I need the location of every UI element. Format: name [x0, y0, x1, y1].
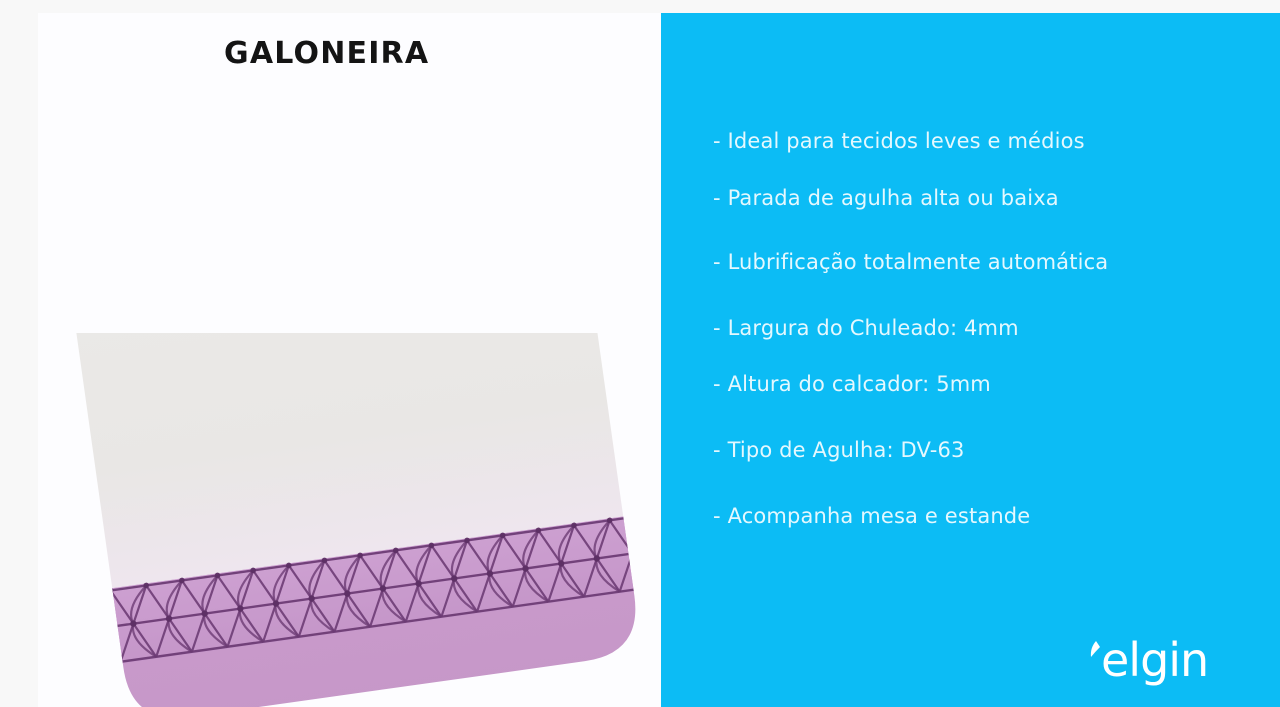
list-item-label: Parada de agulha alta ou baixa [728, 186, 1059, 210]
list-item-label: Altura do calcador: 5mm [728, 372, 991, 396]
bullet-dash: - [713, 438, 721, 462]
list-item: - Ideal para tecidos leves e médios [713, 129, 1085, 153]
list-item: - Largura do Chuleado: 4mm [713, 316, 1019, 340]
fabric-body [38, 333, 661, 707]
bullet-dash: - [713, 129, 721, 153]
list-item: - Lubrificação totalmente automática [713, 250, 1108, 274]
apostrophe-swoosh-icon [1091, 641, 1100, 657]
elgin-wordmark: elgin [1101, 633, 1208, 687]
bullet-dash: - [713, 250, 721, 274]
presentation-slide: GALONEIRA Ponto da galoneira [0, 0, 1280, 707]
coverstitch-seam-illustration [38, 333, 661, 707]
list-item: - Altura do calcador: 5mm [713, 372, 991, 396]
features-panel: - Ideal para tecidos leves e médios - Pa… [661, 13, 1280, 707]
list-item-label: Tipo de Agulha: DV-63 [728, 438, 965, 462]
list-item: - Acompanha mesa e estande [713, 504, 1030, 528]
list-item: - Parada de agulha alta ou baixa [713, 186, 1059, 210]
elgin-logo: elgin [1087, 631, 1247, 689]
elgin-logo-mark: elgin [1087, 631, 1247, 689]
bullet-dash: - [713, 186, 721, 210]
page-title: GALONEIRA [224, 36, 429, 71]
list-item-label: Acompanha mesa e estande [728, 504, 1031, 528]
list-item-label: Largura do Chuleado: 4mm [728, 316, 1019, 340]
bullet-dash: - [713, 504, 721, 528]
list-item: - Tipo de Agulha: DV-63 [713, 438, 965, 462]
left-content-panel: GALONEIRA Ponto da galoneira [38, 13, 661, 707]
list-item-label: Lubrificação totalmente automática [728, 250, 1109, 274]
list-item-label: Ideal para tecidos leves e médios [721, 129, 1085, 153]
bullet-dash: - [713, 372, 721, 396]
bullet-dash: - [713, 316, 721, 340]
